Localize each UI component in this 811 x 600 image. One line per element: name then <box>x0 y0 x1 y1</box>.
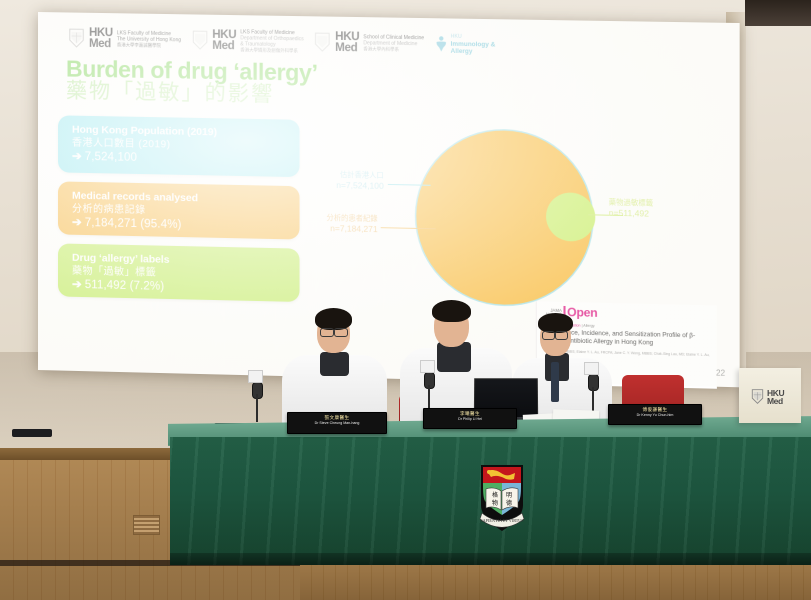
stat-card-medical-records-analysed: Medical records analysed 分析的病患記錄 ➔7,184,… <box>58 181 300 239</box>
stat-value-text: 7,524,100 <box>85 151 137 164</box>
hku-crest-icon <box>68 27 85 48</box>
table-skirt-hem <box>170 553 811 565</box>
logo-line-zh: 香港大學矯形及創傷外科學系 <box>240 47 304 54</box>
stat-card-value: ➔7,184,271 (95.4%) <box>72 216 289 236</box>
slide-page-number: 22 <box>716 368 725 377</box>
stat-card-list: Hong Kong Population (2019) 香港人口數目 (2019… <box>58 115 300 311</box>
hku-university-crest-icon: 格 物 明 德 SAPIENTIA ET VIRTUS <box>478 463 526 533</box>
hku-crest-icon <box>751 388 764 405</box>
nameplate-speaker-right: 傅俊謙醫生 Dr Kenny Yu Chun-him <box>608 404 702 425</box>
venn-leader-line <box>381 227 436 229</box>
arrow-icon: ➔ <box>72 217 82 229</box>
floor-vent-icon <box>133 515 160 535</box>
hku-med-wordmark: HKUMed <box>335 32 359 54</box>
nameplate-speaker-left: 張文康醫生 Dr Steve Cheung Man-hang <box>287 412 387 434</box>
logo-caption-2: LKS Faculty of Medicine Department of Or… <box>240 29 304 54</box>
nameplate-name-zh: 李曦醫生 <box>424 409 516 417</box>
podium-wordmark: HKU Med <box>767 389 784 405</box>
venn-label-records: 分析的患者紀錄 n=7,184,271 <box>276 212 377 234</box>
podium-sign: HKU Med <box>739 368 801 423</box>
venn-label-n: n=7,524,100 <box>286 179 383 191</box>
venn-label-allergy: 藥物過敏標籤 n=511,492 <box>609 197 722 220</box>
stat-value-text: 511,492 (7.2%) <box>85 279 164 293</box>
venn-label-n: n=511,492 <box>609 208 722 220</box>
stat-card-drug-allergy-labels: Drug ‘allergy’ labels 藥物「過敏」標籤 ➔511,492 … <box>58 243 300 302</box>
svg-text:物: 物 <box>492 499 498 507</box>
hku-med-wordmark: HKUMed <box>212 30 236 51</box>
venn-circle-allergy-labels <box>546 192 595 242</box>
logo-hku-med-clinical: HKUMed School of Clinical Medicine Depar… <box>314 31 424 54</box>
ceiling-recess <box>745 0 811 26</box>
stat-card-value: ➔7,524,100 <box>72 150 289 169</box>
nameplate-name-en: Dr Philip Li Hei <box>424 417 516 422</box>
nameplate-speaker-centre: 李曦醫生 Dr Philip Li Hei <box>423 408 517 429</box>
stat-card-hong-kong-population: Hong Kong Population (2019) 香港人口數目 (2019… <box>58 115 300 177</box>
svg-text:格: 格 <box>492 491 498 499</box>
logo-hku-med-lks: HKUMed LKS Faculty of Medicine The Unive… <box>68 27 181 50</box>
hku-crest-icon <box>191 29 208 50</box>
jama-open-wordmark: Open <box>567 307 597 319</box>
hku-crest-icon <box>314 31 331 52</box>
svg-text:德: 德 <box>506 499 512 507</box>
logo-hku-med-ortho: HKUMed LKS Faculty of Medicine Departmen… <box>191 28 304 54</box>
podium-line-2: Med <box>767 396 783 406</box>
venn-leader-line <box>388 184 431 186</box>
nameplate-name-zh: 傅俊謙醫生 <box>609 405 701 413</box>
person-figure-icon <box>434 35 447 52</box>
crest-motto: SAPIENTIA ET VIRTUS <box>480 518 524 523</box>
slide-title-block: Burden of drug ‘allergy’ 藥物「過敏」的影響 <box>66 56 318 108</box>
logo-caption-3: School of Clinical Medicine Department o… <box>363 34 424 53</box>
press-conference-photo: HKUMed LKS Faculty of Medicine The Unive… <box>0 0 811 600</box>
svg-text:明: 明 <box>506 492 512 499</box>
logo-line-zh: 香港大學李嘉誠醫學院 <box>117 42 181 49</box>
projection-screen: HKUMed LKS Faculty of Medicine The Unive… <box>38 12 740 387</box>
venn-label-population: 估計香港人口 n=7,524,100 <box>286 169 383 191</box>
arrow-icon: ➔ <box>72 151 82 163</box>
logo-caption-1: LKS Faculty of Medicine The University o… <box>117 30 181 49</box>
journal-kicker-topic: Allergy <box>583 324 594 328</box>
logo-line-zh: 香港大學內科學系 <box>363 46 424 53</box>
nameplate-name-zh: 張文康醫生 <box>288 413 386 421</box>
nameplate-name-en: Dr Steve Cheung Man-hang <box>288 421 386 426</box>
arrow-icon: ➔ <box>72 279 82 291</box>
phone-left <box>12 429 52 437</box>
logo-hku-immunology-allergy: HKU Immunology & Allergy <box>434 33 495 55</box>
nameplate-name-en: Dr Kenny Yu Chun-him <box>609 413 701 418</box>
hku-med-wordmark: HKUMed <box>89 28 113 49</box>
podium-hku-med-logo: HKU Med <box>739 368 801 405</box>
venn-label-n: n=7,184,271 <box>276 222 377 234</box>
stat-value-text: 7,184,271 (95.4%) <box>85 217 182 231</box>
ia-caption: HKU Immunology & Allergy <box>451 34 496 56</box>
logo-line: Allergy <box>451 48 496 56</box>
